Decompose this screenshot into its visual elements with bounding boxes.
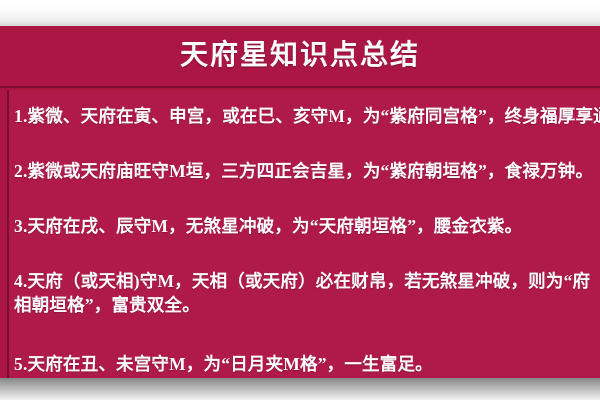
- slide-screenshot: 天府星知识点总结 1.紫微、天府在寅、申宫，或在巳、亥守M，为“紫府同宫格”，终…: [0, 0, 600, 400]
- slide-canvas: 天府星知识点总结 1.紫微、天府在寅、申宫，或在巳、亥守M，为“紫府同宫格”，终…: [0, 26, 600, 378]
- slide-body: 1.紫微、天府在寅、申宫，或在巳、亥守M，为“紫府同宫格”，终身福厚享通。 2.…: [0, 90, 600, 378]
- list-item: 3.天府在戌、辰守M，无煞星冲破，为“天府朝垣格”，腰金衣紫。: [14, 214, 600, 238]
- list-item: 1.紫微、天府在寅、申宫，或在巳、亥守M，为“紫府同宫格”，终身福厚享通。: [14, 104, 600, 128]
- list-item: 2.紫微或天府庙旺守M垣，三方四正会吉星，为“紫府朝垣格”，食禄万钟。: [14, 159, 600, 183]
- list-item: 4.天府（或天相)守M，天相（或天府）必在财帛，若无煞星冲破，则为“府相朝垣格”…: [14, 269, 599, 317]
- bottom-gradient-band: [0, 378, 600, 400]
- list-item: 5.天府在丑、未宫守M，为“日月夹M格”，一生富足。: [14, 352, 600, 376]
- knowledge-point-list: 1.紫微、天府在寅、申宫，或在巳、亥守M，为“紫府同宫格”，终身福厚享通。 2.…: [9, 90, 600, 378]
- left-margin-strip: [0, 90, 7, 378]
- top-gradient-band: [0, 0, 600, 26]
- page-title: 天府星知识点总结: [180, 42, 420, 70]
- slide-title-banner: 天府星知识点总结: [0, 26, 600, 88]
